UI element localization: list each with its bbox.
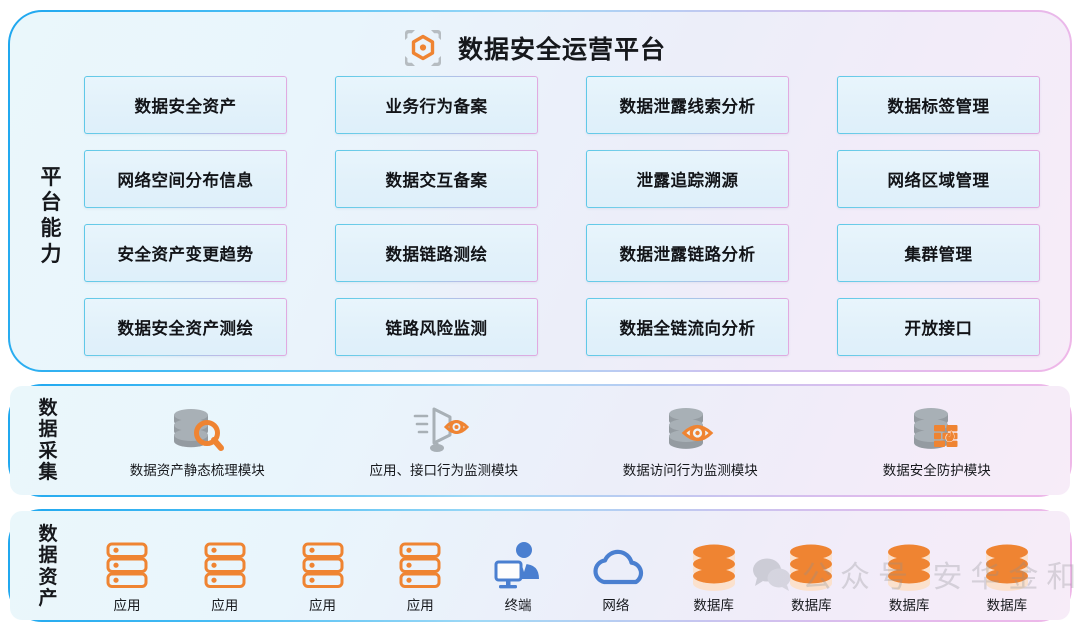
platform-side-label: 平台能力 [24,76,78,356]
capability-label: 数据安全资产 [85,77,286,133]
asset-item[interactable]: 应用 [389,540,451,614]
collection-module-row: 数据资产静态梳理模块 应用、接口行为监测模块 数据访问行为监测模块 [74,392,1060,489]
collection-module-label: 数据访问行为监测模块 [623,459,758,479]
capability-label: 业务行为备案 [336,77,537,133]
platform-side-label-char-2: 能 [41,216,62,242]
architecture-diagram: 数据安全运营平台 平台能力 数据安全资产业务行为备案数据泄露线索分析数据标签管理… [0,0,1080,634]
collection-module[interactable]: 数据访问行为监测模块 [567,403,814,479]
hexagon-shield-icon [402,27,444,69]
asset-item[interactable]: 数据库 [878,540,940,614]
database-cylinder-icon [885,540,933,592]
capability-label: 数据泄露线索分析 [587,77,788,133]
capability-label: 数据链路测绘 [336,225,537,281]
collection-module-label: 数据资产静态梳理模块 [130,459,265,479]
capability-label: 数据全链流向分析 [587,299,788,355]
cloud-icon [592,540,640,592]
capability-box[interactable]: 数据安全资产测绘 [84,298,287,356]
asset-label: 数据库 [693,594,734,614]
asset-item[interactable]: 网络 [585,540,647,614]
capability-label: 链路风险监测 [336,299,537,355]
asset-item[interactable]: 终端 [487,540,549,614]
data-collection-panel: 数据采集 数据资产静态梳理模块 应用、接口行为监测模块 数据访问行为监测模块 [8,384,1072,497]
asset-item[interactable]: 数据库 [780,540,842,614]
collection-side-label: 数据采集 [22,392,74,489]
collection-module[interactable]: 数据安全防护模块 [814,403,1061,479]
assets-side-label-char-3: 产 [38,588,57,609]
capability-box[interactable]: 数据安全资产 [84,76,287,134]
asset-item[interactable]: 应用 [292,540,354,614]
collection-module-label: 数据安全防护模块 [883,459,991,479]
assets-side-label-char-0: 数 [38,524,57,545]
capability-box[interactable]: 集群管理 [837,224,1040,282]
collection-side-label-char-2: 采 [38,441,57,462]
platform-side-label-char-0: 平 [41,165,62,191]
capability-label: 网络区域管理 [838,151,1039,207]
collection-side-label-char-0: 数 [38,398,57,419]
capability-box[interactable]: 网络区域管理 [837,150,1040,208]
capability-box[interactable]: 数据链路测绘 [335,224,538,282]
user-desktop-icon [494,540,542,592]
capability-grid: 数据安全资产业务行为备案数据泄露线索分析数据标签管理网络空间分布信息数据交互备案… [84,76,1044,356]
capability-label: 网络空间分布信息 [85,151,286,207]
platform-side-label-char-3: 力 [41,242,62,268]
server-rack-icon [396,540,444,592]
asset-label: 应用 [407,594,434,614]
asset-label: 终端 [505,594,532,614]
asset-label: 网络 [602,594,629,614]
assets-side-label-char-1: 据 [38,545,57,566]
server-rack-icon [103,540,151,592]
capability-box[interactable]: 业务行为备案 [335,76,538,134]
asset-item[interactable]: 数据库 [683,540,745,614]
capability-label: 数据泄露链路分析 [587,225,788,281]
data-assets-panel: 数据资产 应用 应用 [8,509,1072,622]
capability-label: 开放接口 [838,299,1039,355]
platform-title: 数据安全运营平台 [458,30,666,66]
collection-module-label: 应用、接口行为监测模块 [370,459,519,479]
collection-module[interactable]: 应用、接口行为监测模块 [321,403,568,479]
assets-side-label: 数据资产 [22,517,74,616]
database-firewall-icon [905,403,969,455]
asset-item[interactable]: 应用 [194,540,256,614]
capability-box[interactable]: 安全资产变更趋势 [84,224,287,282]
database-cylinder-icon [690,540,738,592]
asset-label: 应用 [211,594,238,614]
capability-label: 数据标签管理 [838,77,1039,133]
capability-label: 数据交互备案 [336,151,537,207]
capability-body: 平台能力 数据安全资产业务行为备案数据泄露线索分析数据标签管理网络空间分布信息数… [24,76,1044,356]
collection-side-label-char-1: 据 [38,419,57,440]
capability-box[interactable]: 数据全链流向分析 [586,298,789,356]
capability-box[interactable]: 数据标签管理 [837,76,1040,134]
capability-box[interactable]: 数据交互备案 [335,150,538,208]
database-eye-icon [658,403,722,455]
platform-capability-panel: 数据安全运营平台 平台能力 数据安全资产业务行为备案数据泄露线索分析数据标签管理… [8,10,1072,372]
capability-box[interactable]: 数据泄露链路分析 [586,224,789,282]
collection-module[interactable]: 数据资产静态梳理模块 [74,403,321,479]
database-cylinder-icon [983,540,1031,592]
capability-label: 数据安全资产测绘 [85,299,286,355]
platform-header: 数据安全运营平台 [24,20,1044,76]
capability-box[interactable]: 泄露追踪溯源 [586,150,789,208]
capability-label: 集群管理 [838,225,1039,281]
database-cylinder-icon [787,540,835,592]
asset-label: 数据库 [889,594,930,614]
capability-box[interactable]: 数据泄露线索分析 [586,76,789,134]
platform-side-label-char-1: 台 [41,190,62,216]
capability-box[interactable]: 开放接口 [837,298,1040,356]
asset-label: 应用 [309,594,336,614]
capability-box[interactable]: 链路风险监测 [335,298,538,356]
asset-label: 数据库 [791,594,832,614]
database-search-icon [165,403,229,455]
assets-row: 应用 应用 应用 [74,517,1056,616]
asset-item[interactable]: 应用 [96,540,158,614]
monitor-eye-icon [412,403,476,455]
capability-box[interactable]: 网络空间分布信息 [84,150,287,208]
server-rack-icon [299,540,347,592]
assets-side-label-char-2: 资 [38,567,57,588]
server-rack-icon [201,540,249,592]
asset-item[interactable]: 数据库 [976,540,1038,614]
asset-label: 应用 [114,594,141,614]
capability-label: 泄露追踪溯源 [587,151,788,207]
asset-label: 数据库 [987,594,1028,614]
collection-side-label-char-3: 集 [38,462,57,483]
capability-label: 安全资产变更趋势 [85,225,286,281]
